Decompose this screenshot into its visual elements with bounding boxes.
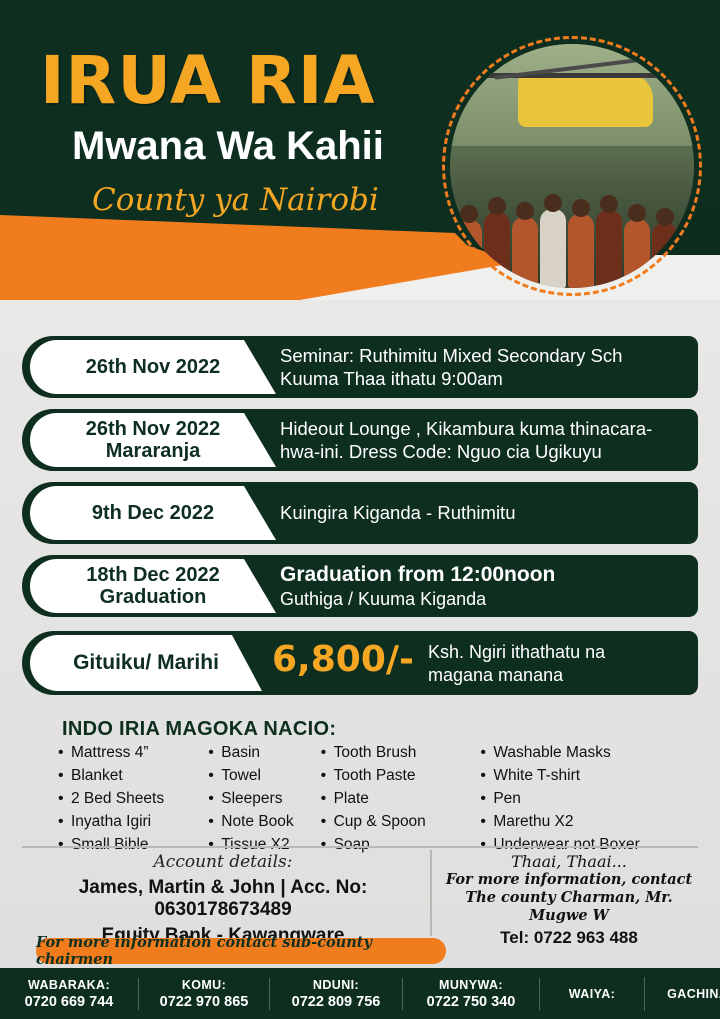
footer-contact-phone: 0720 669 744 [10,994,128,1010]
list-item: Mattress 4” [58,744,200,763]
list-item: Towel [208,767,312,786]
vertical-divider [430,850,432,936]
schedule-list: 26th Nov 2022 Seminar: Ruthimitu Mixed S… [0,336,720,695]
list-item: Cup & Spoon [321,813,473,832]
fee-amount: 6,800/- [272,639,414,680]
row-date-line1: 9th Dec 2022 [92,503,214,524]
row-text: Hideout Lounge , Kikambura kuma thinacar… [280,409,684,471]
schedule-row: 18th Dec 2022 Graduation Graduation from… [22,555,698,617]
footer-contact-name: WAIYA: [569,987,615,1001]
footer-contact-name: MUNYWA: [413,978,529,992]
fee-description-line1: Ksh. Ngiri ithathatu na [428,641,686,664]
footer-contact-name: GACHINA: [667,987,720,1001]
list-item: Inyatha Igiri [58,813,200,832]
footer-contact: MUNYWA: 0722 750 340 [403,978,540,1010]
row-date-line1: 18th Dec 2022 [86,565,219,586]
footer-contact: KOMU: 0722 970 865 [139,978,270,1010]
row-date-line1: 26th Nov 2022 [86,419,221,440]
list-item: Sleepers [208,790,312,809]
list-item: Note Book [208,813,312,832]
contact-line1: For more information, contact [440,871,698,889]
fee-label-box: Gituiku/ Marihi [30,635,262,691]
row-date: 18th Dec 2022 Graduation [30,559,276,613]
list-item: Marethu X2 [480,813,670,832]
list-item: Blanket [58,767,200,786]
footer-contacts: WABARAKA: 0720 669 744 KOMU: 0722 970 86… [0,968,720,1019]
row-text: Graduation from 12:00noon Guthiga / Kuum… [280,555,684,617]
poster-root: IRUA RIA Mwana Wa Kahii County ya Nairob… [0,0,720,1019]
list-item: White T-shirt [480,767,670,786]
footer-contact-phone: 0722 809 756 [280,994,392,1010]
list-item: Plate [321,790,473,809]
items-title: INDO IRIA MAGOKA NACIO: [62,718,336,741]
poster-header: IRUA RIA Mwana Wa Kahii County ya Nairob… [0,0,720,300]
footer-contact: WABARAKA: 0720 669 744 [0,978,139,1010]
footer-contact-name: KOMU: [149,978,259,992]
footer-contact-phone: 0722 970 865 [149,994,259,1010]
items-list: Mattress 4” Blanket 2 Bed Sheets Inyatha… [58,744,678,859]
footer-contact-name: WABARAKA: [10,978,128,992]
row-date-line2: Graduation [100,586,207,608]
contact-phone: Tel: 0722 963 488 [440,928,698,948]
row-text: Seminar: Ruthimitu Mixed Secondary Sch K… [280,336,684,398]
footer-contact: GACHINA: [645,977,720,1011]
schedule-row: 9th Dec 2022 Kuingira Kiganda - Ruthimit… [22,482,698,544]
row-text-line1: Hideout Lounge , Kikambura kuma thinacar… [280,417,684,440]
subcounty-banner: For more information contact sub-county … [36,938,446,964]
list-item: Pen [480,790,670,809]
items-column-2: Basin Towel Sleepers Note Book Tissue X2 [208,744,320,859]
list-item: 2 Bed Sheets [58,790,200,809]
row-text-line2: hwa-ini. Dress Code: Nguo cia Ugikuyu [280,440,684,463]
page-script-line: County ya Nairobi [92,182,379,218]
schedule-row: 26th Nov 2022 Mararanja Hideout Lounge ,… [22,409,698,471]
footer-contact: WAIYA: [540,977,645,1011]
footer-contact: NDUNI: 0722 809 756 [270,978,403,1010]
list-item: Tooth Paste [321,767,473,786]
items-column-4: Washable Masks White T-shirt Pen Marethu… [480,744,678,859]
footer-contact-name: NDUNI: [280,978,392,992]
row-text: Kuingira Kiganda - Ruthimitu [280,482,684,544]
row-text-line1: Graduation from 12:00noon [280,562,684,588]
list-item: Tooth Brush [321,744,473,763]
schedule-row: 26th Nov 2022 Seminar: Ruthimitu Mixed S… [22,336,698,398]
items-column-1: Mattress 4” Blanket 2 Bed Sheets Inyatha… [58,744,208,859]
account-holder-and-number: James, Martin & John | Acc. No: 06301786… [22,877,424,921]
footer-contact-phone: 0722 750 340 [413,994,529,1010]
page-subtitle: Mwana Wa Kahii [72,124,384,169]
row-text-line1: Seminar: Ruthimitu Mixed Secondary Sch [280,344,684,367]
fee-description: Ksh. Ngiri ithathatu na magana manana [428,641,686,688]
contact-line2: The county Charman, Mr. Mugwe W [440,889,698,925]
account-details-label: Account details: [22,852,424,872]
list-item: Basin [208,744,312,763]
items-column-3: Tooth Brush Tooth Paste Plate Cup & Spoo… [321,744,481,859]
row-text-line2: Kuuma Thaa ithatu 9:00am [280,367,684,390]
row-date: 26th Nov 2022 [30,340,276,394]
row-date: 9th Dec 2022 [30,486,276,540]
contact-greeting: Thaai, Thaai... [440,852,698,871]
row-date: 26th Nov 2022 Mararanja [30,413,276,467]
fee-description-line2: magana manana [428,664,686,687]
fee-row: Gituiku/ Marihi 6,800/- Ksh. Ngiri ithat… [22,631,698,695]
contact-block: Thaai, Thaai... For more information, co… [440,852,698,948]
section-divider [22,846,698,848]
page-title: IRUA RIA [40,42,375,119]
list-item: Washable Masks [480,744,670,763]
row-text-line1: Kuingira Kiganda - Ruthimitu [280,501,684,524]
subcounty-banner-text: For more information contact sub-county … [36,934,446,968]
account-details: Account details: James, Martin & John | … [22,852,424,947]
fee-label: Gituiku/ Marihi [73,651,219,675]
row-date-line1: 26th Nov 2022 [86,357,221,378]
row-date-line2: Mararanja [106,440,201,462]
photo-ring-decoration [442,36,702,296]
row-text-line2: Guthiga / Kuuma Kiganda [280,588,684,611]
